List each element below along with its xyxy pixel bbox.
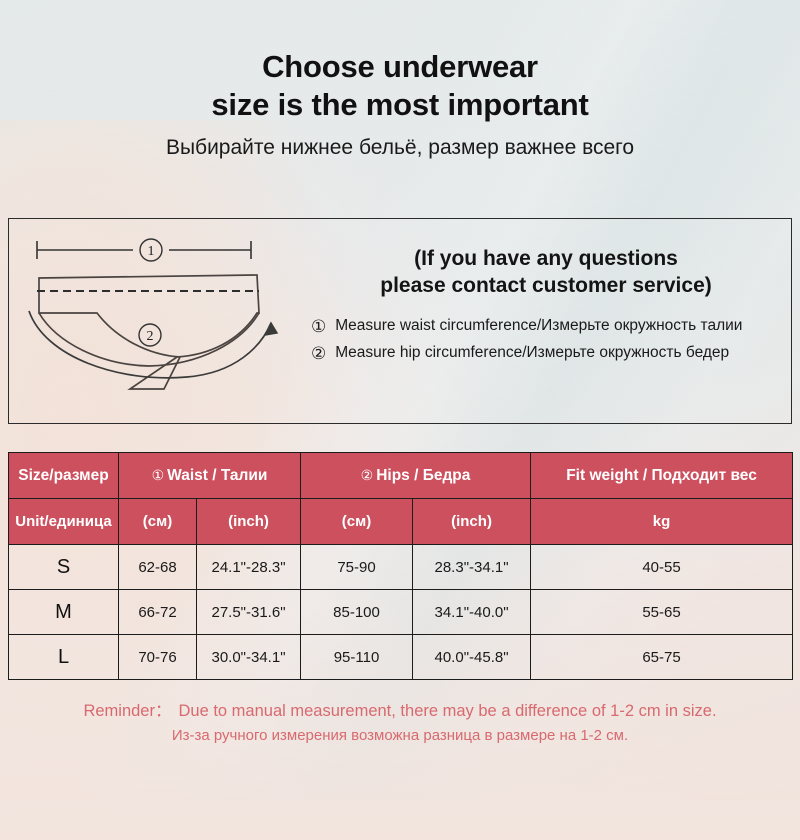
cell-hips-inch: 34.1"-40.0": [413, 590, 531, 635]
circled-two-icon: ②: [361, 467, 374, 483]
measure-hip-instruction: Measure hip circumference/Измерьте окруж…: [335, 344, 729, 362]
page-header: Choose underwear size is the most import…: [0, 48, 800, 161]
table-group-header-row: Size/размер ①Waist / Талии ②Hips / Бедра…: [9, 453, 793, 499]
cell-hips-cm: 85-100: [301, 590, 413, 635]
cell-waist-inch: 27.5"-31.6": [197, 590, 301, 635]
hip-measure-curve-icon: 2: [29, 311, 277, 378]
table-row: M 66-72 27.5"-31.6" 85-100 34.1"-40.0" 5…: [9, 590, 793, 635]
cell-weight-kg: 65-75: [531, 635, 793, 680]
header-fit-weight: Fit weight / Подходит вес: [531, 453, 793, 499]
header-size-label: Size/размер: [18, 467, 108, 484]
header-waist: ①Waist / Талии: [119, 453, 301, 499]
cell-size: M: [9, 590, 119, 635]
cell-hips-inch: 40.0"-45.8": [413, 635, 531, 680]
header-size: Size/размер: [9, 453, 119, 499]
table-row: S 62-68 24.1"-28.3" 75-90 28.3"-34.1" 40…: [9, 545, 793, 590]
size-chart-table-body: S 62-68 24.1"-28.3" 75-90 28.3"-34.1" 40…: [9, 545, 793, 680]
cell-size: S: [9, 545, 119, 590]
underwear-diagram-svg: 1 2: [9, 219, 299, 422]
cell-waist-cm: 66-72: [119, 590, 197, 635]
circled-two-icon: ②: [311, 345, 326, 362]
page-content: Choose underwear size is the most import…: [0, 0, 800, 800]
circled-one-icon: ①: [311, 318, 326, 335]
size-chart-table-head: Size/размер ①Waist / Талии ②Hips / Бедра…: [9, 453, 793, 545]
size-chart-table: Size/размер ①Waist / Талии ②Hips / Бедра…: [8, 452, 793, 680]
cell-size: L: [9, 635, 119, 680]
header-waist-cm: (см): [119, 499, 197, 545]
header-unit: Unit/единица: [9, 499, 119, 545]
table-row: L 70-76 30.0"-34.1" 95-110 40.0"-45.8" 6…: [9, 635, 793, 680]
header-waist-label: Waist / Талии: [167, 467, 267, 484]
customer-service-heading: (If you have any questions please contac…: [301, 245, 791, 299]
cell-weight-kg: 55-65: [531, 590, 793, 635]
cell-hips-inch: 28.3"-34.1": [413, 545, 531, 590]
list-item: ② Measure hip circumference/Измерьте окр…: [311, 344, 791, 362]
svg-text:2: 2: [147, 329, 154, 344]
cell-waist-cm: 62-68: [119, 545, 197, 590]
table-unit-header-row: Unit/единица (см) (inch) (см) (inch) kg: [9, 499, 793, 545]
waist-measure-line-icon: 1: [37, 239, 251, 261]
reminder-label: Reminder：: [83, 702, 171, 720]
page-title-line-2: size is the most important: [0, 86, 800, 124]
reminder-line-english: Reminder：Due to manual measurement, ther…: [0, 700, 800, 722]
info-panel: 1 2 (If you have any: [8, 218, 792, 424]
header-hips-label: Hips / Бедра: [376, 467, 470, 484]
reminder-text-russian: Из-за ручного измерения возможна разница…: [0, 725, 800, 747]
header-hips: ②Hips / Бедра: [301, 453, 531, 499]
cell-weight-kg: 40-55: [531, 545, 793, 590]
circled-one-icon: ①: [152, 467, 165, 483]
cell-waist-cm: 70-76: [119, 635, 197, 680]
customer-service-heading-line-1: (If you have any questions: [301, 245, 791, 272]
underwear-diagram: 1 2: [9, 219, 299, 422]
cell-waist-inch: 30.0"-34.1": [197, 635, 301, 680]
cell-waist-inch: 24.1"-28.3": [197, 545, 301, 590]
reminder-text-english: Due to manual measurement, there may be …: [178, 702, 716, 720]
header-hips-cm: (см): [301, 499, 413, 545]
reminder-note: Reminder：Due to manual measurement, ther…: [0, 700, 800, 747]
instructions-area: (If you have any questions please contac…: [301, 219, 791, 422]
measure-instruction-list: ① Measure waist circumference/Измерьте о…: [301, 317, 791, 362]
header-hips-inch: (inch): [413, 499, 531, 545]
header-weight-kg: kg: [531, 499, 793, 545]
cell-hips-cm: 95-110: [301, 635, 413, 680]
cell-hips-cm: 75-90: [301, 545, 413, 590]
svg-text:1: 1: [148, 244, 155, 259]
page-subtitle-russian: Выбирайте нижнее бельё, размер важнее вс…: [0, 135, 800, 161]
header-waist-inch: (inch): [197, 499, 301, 545]
customer-service-heading-line-2: please contact customer service): [301, 272, 791, 299]
list-item: ① Measure waist circumference/Измерьте о…: [311, 317, 791, 335]
header-fit-weight-label: Fit weight / Подходит вес: [566, 467, 757, 484]
measure-waist-instruction: Measure waist circumference/Измерьте окр…: [335, 317, 742, 335]
page-title-line-1: Choose underwear: [0, 48, 800, 86]
